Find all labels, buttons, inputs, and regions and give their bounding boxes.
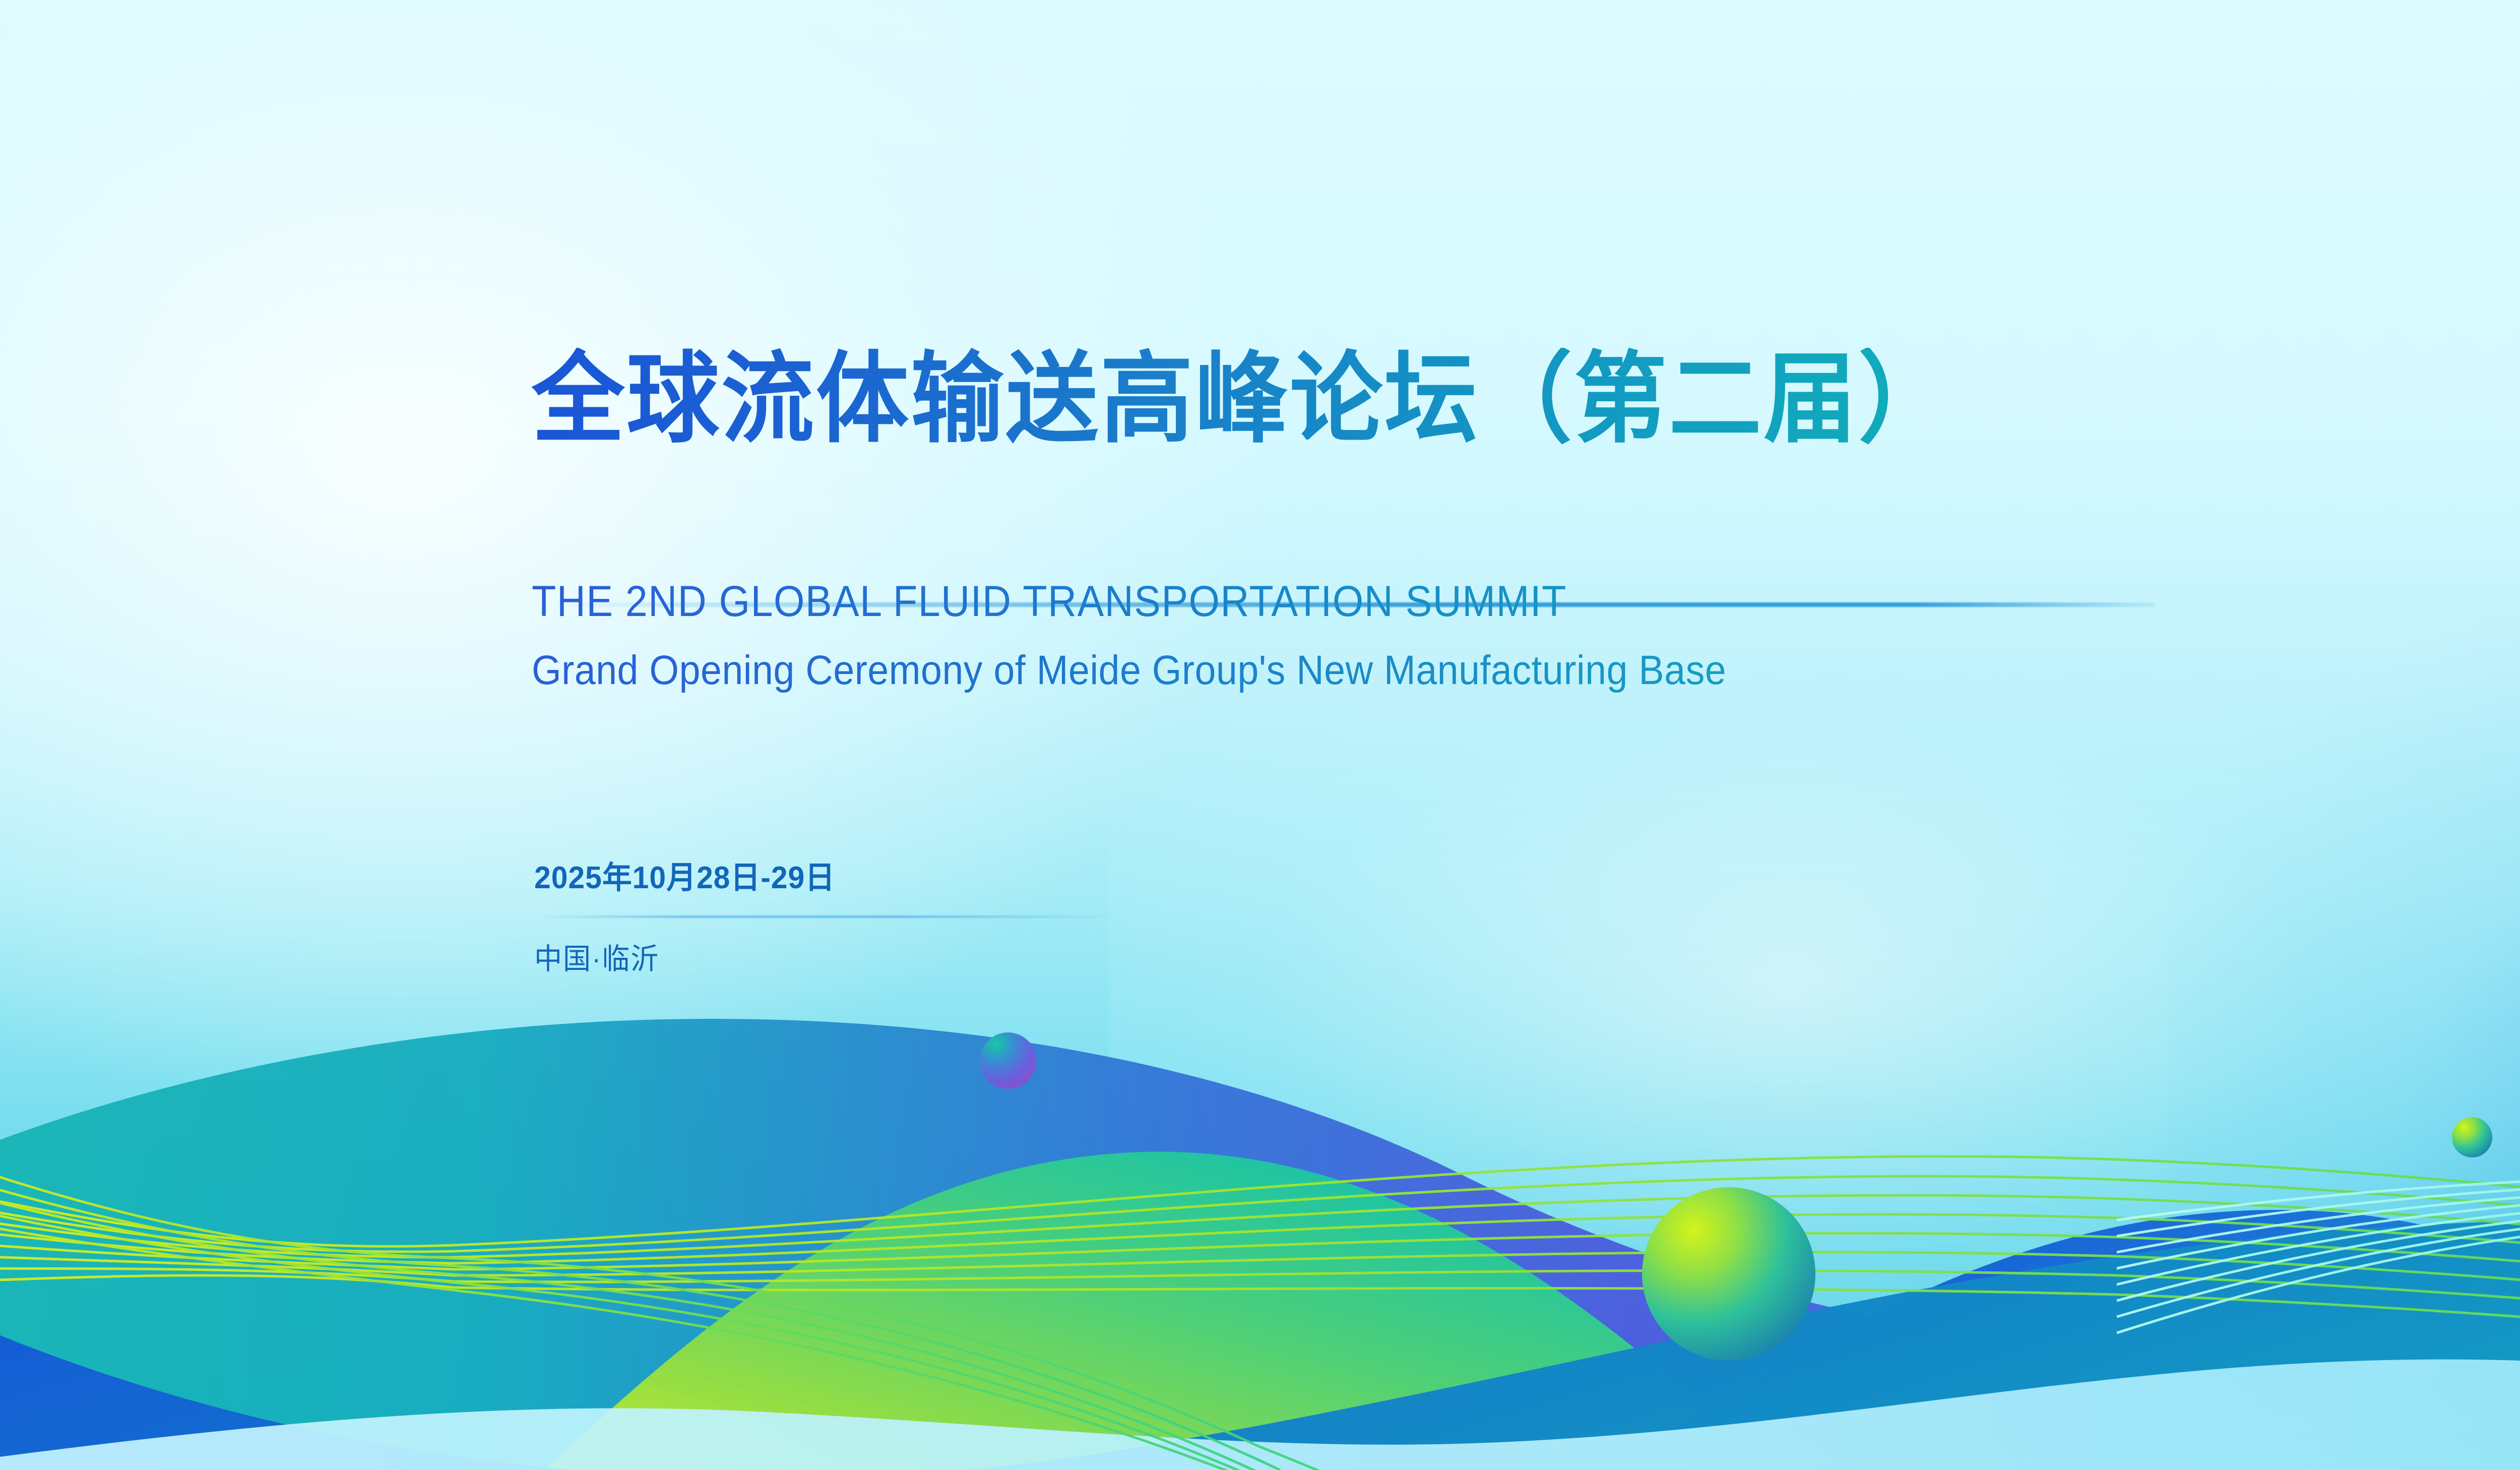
wave-artwork xyxy=(0,0,2520,1470)
headline-block: 全球流体输送高峰论坛（第二届） 暨玫德集团新智造基地投产仪式 THE 2ND G… xyxy=(532,348,2520,694)
sphere-large-green-teal xyxy=(1642,1187,1815,1361)
meta-divider xyxy=(534,915,1119,918)
page-subtitle-en: Grand Opening Ceremony of Meide Group's … xyxy=(532,647,2520,694)
page-title-cn: 全球流体输送高峰论坛（第二届） xyxy=(532,348,2520,451)
sphere-small-green-teal xyxy=(2452,1117,2492,1157)
event-meta-block: 2025年10月28日-29日 中国·临沂 xyxy=(534,852,1341,977)
sphere-small-teal-purple xyxy=(980,1032,1036,1089)
page-subtitle-cn: 暨玫德集团新智造基地投产仪式 xyxy=(532,463,2520,535)
poster-canvas: 全球流体输送高峰论坛（第二届） 暨玫德集团新智造基地投产仪式 THE 2ND G… xyxy=(0,0,2520,1470)
event-date: 2025年10月28日-29日 xyxy=(534,852,1300,897)
page-title-en: THE 2ND GLOBAL FLUID TRANSPORTATION SUMM… xyxy=(532,577,2520,627)
event-location: 中国·临沂 xyxy=(534,935,1300,977)
